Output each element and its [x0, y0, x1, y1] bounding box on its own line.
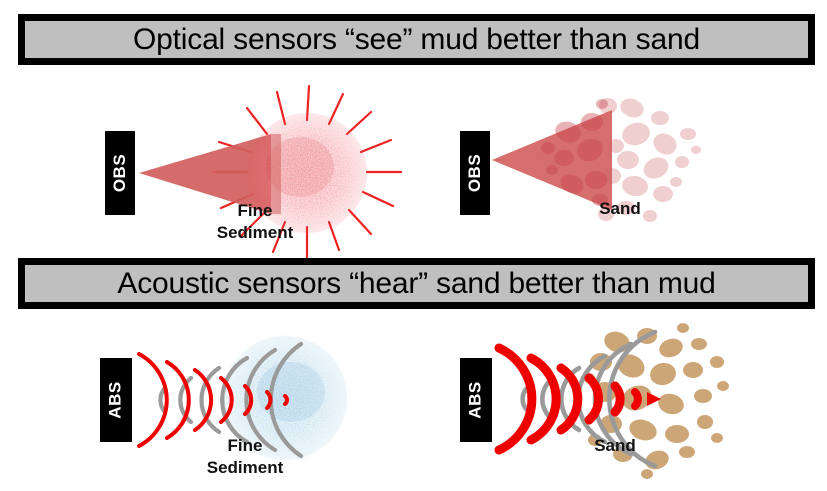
caption-obs-sand: Sand — [520, 198, 720, 220]
caption-abs-fine-sediment: Fine Sediment — [145, 435, 345, 480]
sensor-box-abs: ABS — [460, 358, 492, 442]
banner-acoustic-text: Acoustic sensors “hear” sand better than… — [117, 267, 715, 301]
banner-optical-text: Optical sensors “see” mud better than sa… — [133, 23, 700, 57]
caption-obs-fine-sediment: Fine Sediment — [155, 200, 355, 245]
caption-abs-sand: Sand — [515, 435, 715, 457]
sensor-box-obs: OBS — [105, 131, 135, 215]
sensor-box-abs: ABS — [100, 358, 132, 442]
abs-sand-illustration — [455, 326, 755, 491]
outgoing-arcs-tip — [635, 392, 638, 406]
banner-acoustic: Acoustic sensors “hear” sand better than… — [18, 258, 815, 309]
sensor-label-abs: ABS — [106, 381, 126, 418]
sensor-label-obs: OBS — [110, 154, 130, 192]
sensor-box-obs: OBS — [460, 131, 490, 215]
panel-abs-sand: ABS — [455, 326, 755, 491]
sensor-label-abs: ABS — [466, 381, 486, 418]
banner-optical: Optical sensors “see” mud better than sa… — [18, 14, 815, 65]
sensor-label-obs: OBS — [465, 154, 485, 192]
